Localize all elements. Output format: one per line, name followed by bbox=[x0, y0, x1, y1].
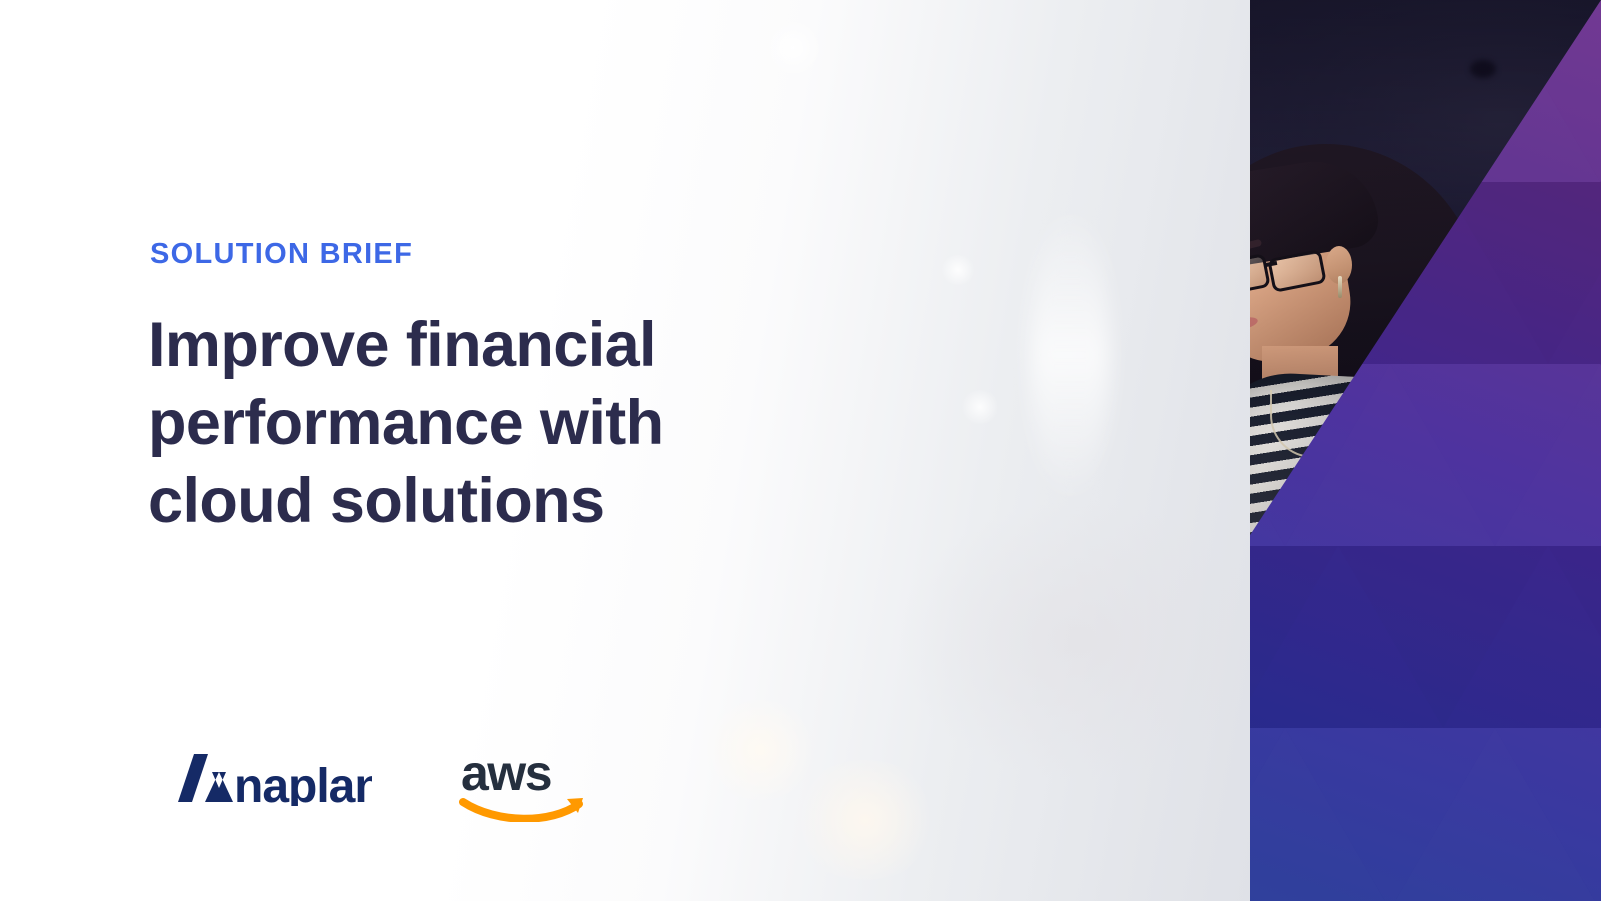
anaplan-logo[interactable]: naplan Anaplan bbox=[150, 750, 372, 806]
svg-text:aws: aws bbox=[461, 745, 551, 801]
aws-logo[interactable]: aws aws bbox=[455, 742, 590, 822]
facet-triangle bbox=[1495, 728, 1601, 901]
bokeh-highlight bbox=[940, 255, 976, 285]
facet-triangle bbox=[1548, 182, 1601, 364]
svg-text:naplan: naplan bbox=[234, 760, 372, 806]
facet-triangle bbox=[1495, 364, 1601, 546]
page-canvas: SOLUTION BRIEF Improve financial perform… bbox=[0, 0, 1601, 901]
facet-triangle bbox=[1548, 546, 1601, 728]
page-title: Improve financial performance with cloud… bbox=[148, 306, 664, 540]
eyebrow-label: SOLUTION BRIEF bbox=[150, 240, 413, 269]
bokeh-highlight bbox=[960, 390, 1000, 424]
